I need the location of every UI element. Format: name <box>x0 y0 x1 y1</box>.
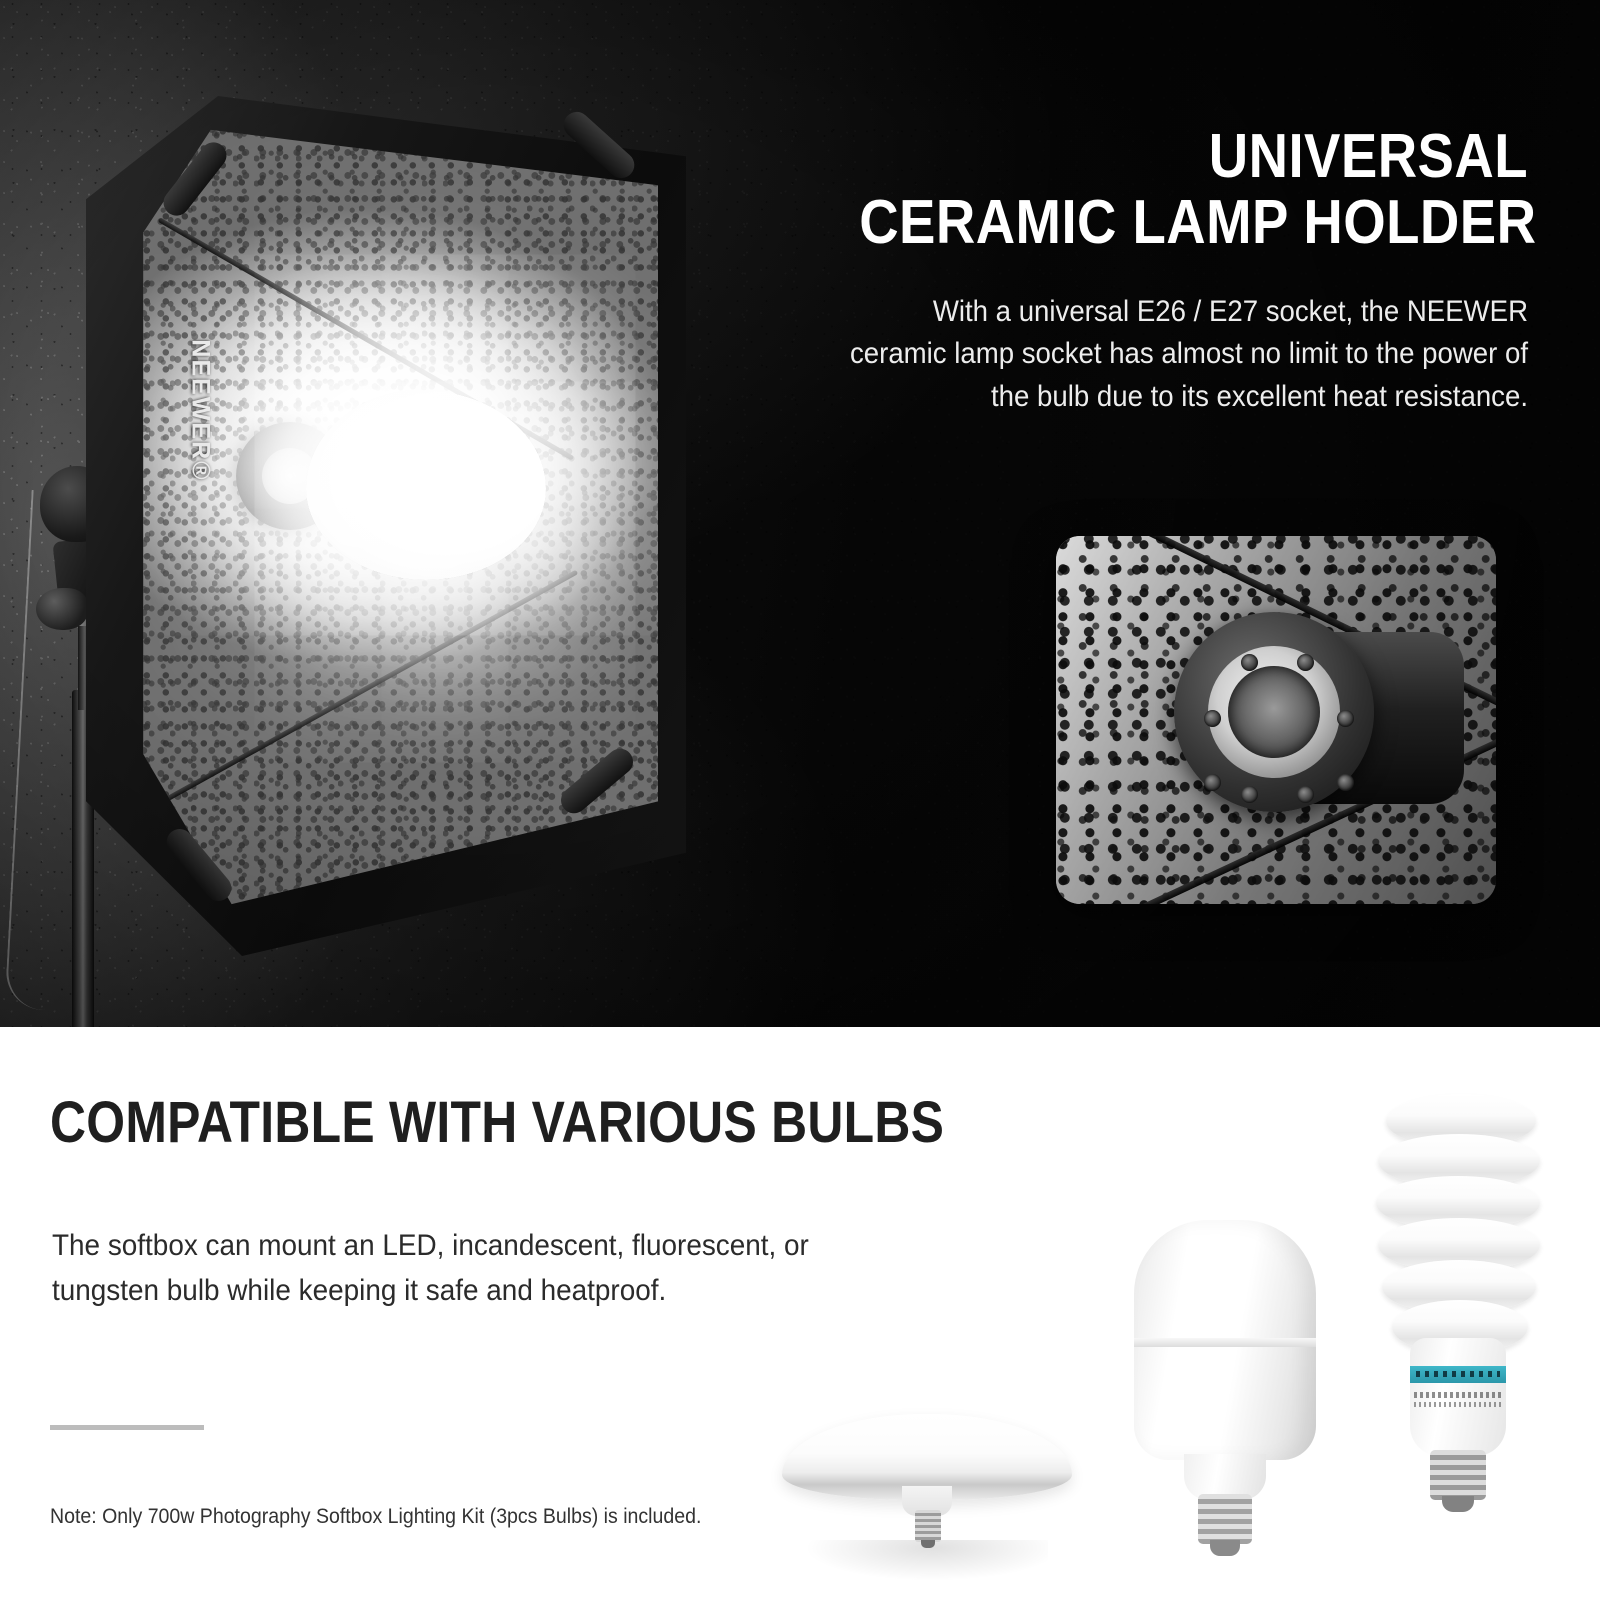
e26-screw-base <box>1198 1494 1252 1544</box>
holder-screw <box>1204 710 1221 727</box>
disclaimer-note: Note: Only 700w Photography Softbox Ligh… <box>50 1505 701 1529</box>
e26-screw-base <box>1430 1450 1486 1500</box>
base-contact-tip <box>1442 1496 1474 1512</box>
holder-screw <box>1241 786 1258 803</box>
holder-screw <box>1297 654 1314 671</box>
hero-title-line2: CERAMIC LAMP HOLDER <box>859 194 1528 252</box>
cfl-label-band <box>1410 1366 1506 1383</box>
hero-title: UNIVERSAL CERAMIC LAMP HOLDER <box>859 128 1528 253</box>
hero-section: NEEWER® UNIVERSAL CERAMIC LAMP HOLDER Wi… <box>0 0 1600 1027</box>
cylindrical-led-bulb <box>1120 1220 1330 1565</box>
e26-screw-base <box>915 1510 941 1542</box>
lower-title: COMPATIBLE WITH VARIOUS BULBS <box>50 1089 944 1156</box>
ufo-led-bulb <box>782 1390 1072 1580</box>
spiral-cfl-bulb <box>1358 1088 1558 1568</box>
holder-screw <box>1337 710 1354 727</box>
lower-body-text: The softbox can mount an LED, incandesce… <box>52 1223 908 1313</box>
socket-closeup-inset <box>1056 536 1496 904</box>
hero-copy: UNIVERSAL CERAMIC LAMP HOLDER With a uni… <box>768 128 1528 418</box>
base-contact-tip <box>921 1540 935 1548</box>
cfl-spec-label <box>1414 1390 1502 1410</box>
hero-title-line1: UNIVERSAL <box>1209 122 1528 191</box>
divider-rule <box>50 1425 204 1430</box>
bulb-seam <box>1134 1338 1316 1347</box>
holder-screw <box>1241 654 1258 671</box>
hero-body-text: With a universal E26 / E27 socket, the N… <box>829 291 1528 419</box>
holder-screw <box>1337 774 1354 791</box>
holder-screw <box>1204 774 1221 791</box>
holder-screw <box>1297 786 1314 803</box>
base-contact-tip <box>1210 1540 1240 1556</box>
